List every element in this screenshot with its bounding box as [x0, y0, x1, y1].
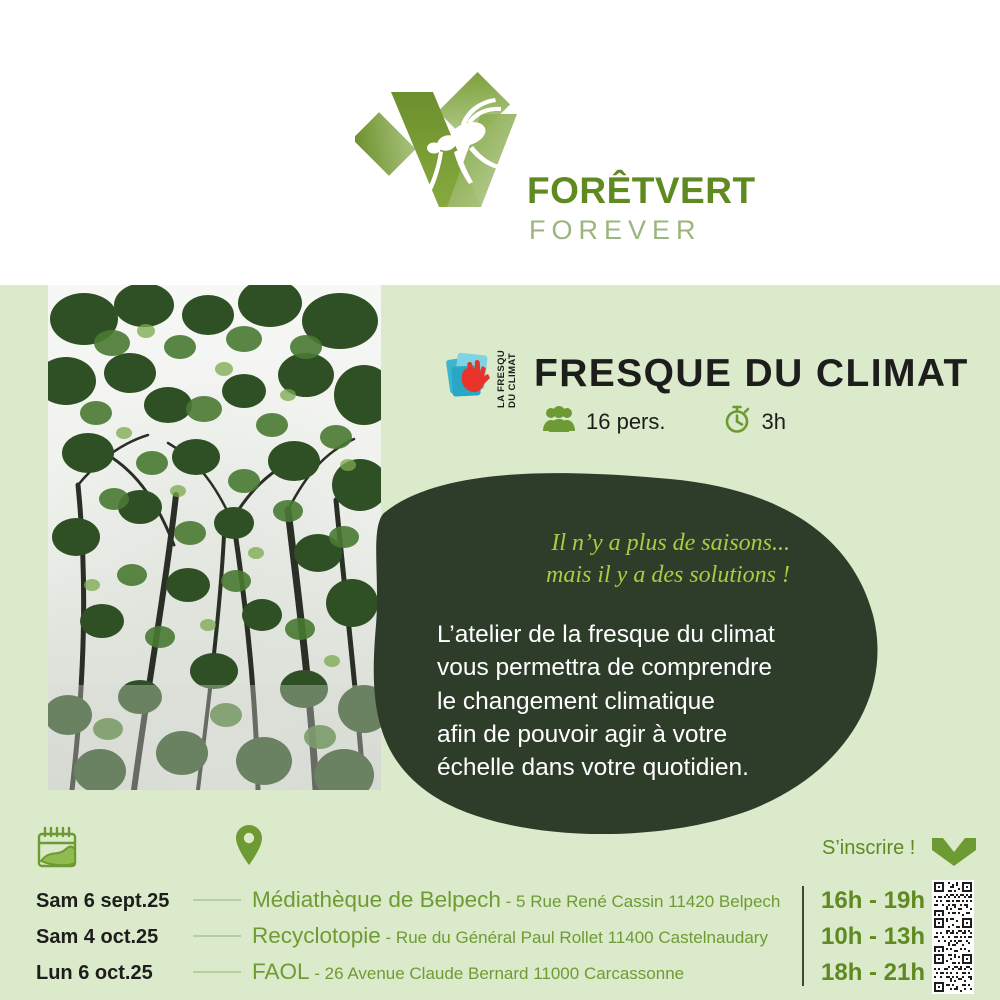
table-row[interactable]: Sam 4 oct.25 Recyclotopie - Rue du Génér…	[0, 920, 1000, 953]
schedule-venue-address: - 26 Avenue Claude Bernard 11000 Carcass…	[310, 964, 685, 983]
body-paragraph: L’atelier de la fresque du climat vous p…	[437, 618, 807, 785]
meta-capacity: 16 pers.	[542, 406, 666, 437]
svg-text:LA FRESQUE: LA FRESQUE	[496, 350, 507, 408]
schedule-venue: Médiathèque de Belpech - 5 Rue René Cass…	[252, 889, 792, 912]
table-row[interactable]: Lun 6 oct.25 FAOL - 26 Avenue Claude Ber…	[0, 956, 1000, 989]
brand-wordmark: FORÊTVERT FOREVER	[527, 172, 827, 244]
schedule-date: Sam 6 sept.25	[36, 891, 196, 911]
forest-canopy-photo	[48, 285, 381, 790]
body-line-5: échelle dans votre quotidien.	[437, 751, 807, 784]
schedule-venue-address: - 5 Rue René Cassin 11420 Belpech	[501, 892, 780, 911]
schedule-venue-name: FAOL	[252, 959, 310, 984]
schedule-venue: Recyclotopie - Rue du Général Paul Rolle…	[252, 925, 792, 948]
brand-tagline: FOREVER	[529, 217, 827, 244]
brand-name: FORÊTVERT	[527, 172, 827, 209]
header-band: FORÊTVERT FOREVER	[0, 0, 1000, 285]
body-line-1: L’atelier de la fresque du climat	[437, 618, 807, 651]
body-line-2: vous permettra de comprendre	[437, 651, 807, 684]
schedule-venue-name: Médiathèque de Belpech	[252, 887, 501, 912]
table-row[interactable]: Sam 6 sept.25 Médiathèque de Belpech - 5…	[0, 884, 1000, 917]
workshop-meta: 16 pers. 3h	[542, 404, 786, 439]
people-group-icon	[542, 406, 576, 437]
schedule-dash	[193, 899, 241, 901]
meta-capacity-label: 16 pers.	[586, 411, 666, 433]
foretvert-chevron-ant-logo	[355, 62, 540, 237]
schedule-venue: FAOL - 26 Avenue Claude Bernard 11000 Ca…	[252, 961, 792, 984]
svg-text:DU CLIMAT: DU CLIMAT	[507, 353, 518, 408]
poster-canvas: FORÊTVERT FOREVER	[0, 0, 1000, 1000]
quote-text: Il n’y a plus de saisons... mais il y a …	[430, 528, 790, 591]
schedule-dash	[193, 935, 241, 937]
calendar-icon	[36, 825, 78, 874]
schedule-venue-name: Recyclotopie	[252, 923, 381, 948]
stopwatch-icon	[722, 404, 752, 439]
schedule-table: Sam 6 sept.25 Médiathèque de Belpech - 5…	[0, 880, 1000, 992]
chevron-down-icon[interactable]	[928, 834, 980, 875]
schedule-time: 10h - 13h	[821, 925, 925, 949]
meta-duration: 3h	[722, 404, 786, 439]
body-line-3: le changement climatique	[437, 685, 807, 718]
schedule-venue-address: - Rue du Général Paul Rollet 11400 Caste…	[381, 928, 768, 947]
meta-duration-label: 3h	[762, 411, 786, 433]
schedule-time: 18h - 21h	[821, 961, 925, 985]
schedule-time: 16h - 19h	[821, 889, 925, 913]
body-line-4: afin de pouvoir agir à votre	[437, 718, 807, 751]
fresque-du-climat-logo: LA FRESQUE DU CLIMAT	[446, 350, 524, 412]
quote-line-2: mais il y a des solutions !	[430, 560, 790, 592]
workshop-title: FRESQUE DU CLIMAT	[534, 354, 969, 393]
schedule-dash	[193, 971, 241, 973]
map-pin-icon	[234, 823, 264, 872]
signup-label: S’inscrire !	[822, 838, 915, 858]
qr-code-icon[interactable]	[932, 952, 974, 994]
schedule-date: Lun 6 oct.25	[36, 963, 196, 983]
quote-line-1: Il n’y a plus de saisons...	[430, 528, 790, 560]
workshop-header: LA FRESQUE DU CLIMAT FRESQUE DU CLIMAT	[446, 348, 986, 448]
schedule-date: Sam 4 oct.25	[36, 927, 196, 947]
